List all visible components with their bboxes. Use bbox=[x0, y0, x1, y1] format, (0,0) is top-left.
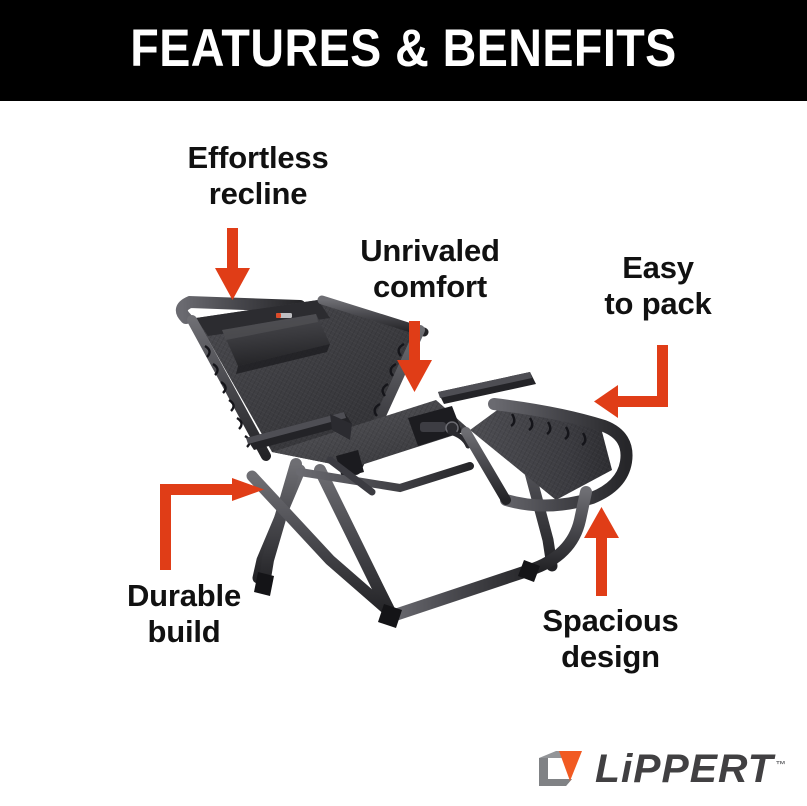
callout-label-unrivaled-comfort: Unrivaled comfort bbox=[315, 233, 545, 306]
lippert-wordmark: LiPPERT™ bbox=[595, 749, 786, 789]
infographic-page: FEATURES & BENEFITS bbox=[0, 0, 807, 806]
lippert-logo: LiPPERT™ bbox=[536, 745, 788, 793]
armrest-right bbox=[438, 372, 536, 404]
callout-label-effortless-recline: Effortless recline bbox=[118, 140, 398, 213]
callout-label-durable-build: Durable build bbox=[74, 578, 294, 651]
trademark-symbol: ™ bbox=[776, 760, 786, 771]
lippert-wordmark-text: LiPPERT bbox=[595, 747, 774, 791]
lippert-logo-mark bbox=[536, 749, 588, 789]
callout-label-spacious-design: Spacious design bbox=[498, 603, 723, 676]
callout-label-easy-to-pack: Easy to pack bbox=[548, 250, 768, 323]
product-image bbox=[0, 0, 807, 806]
